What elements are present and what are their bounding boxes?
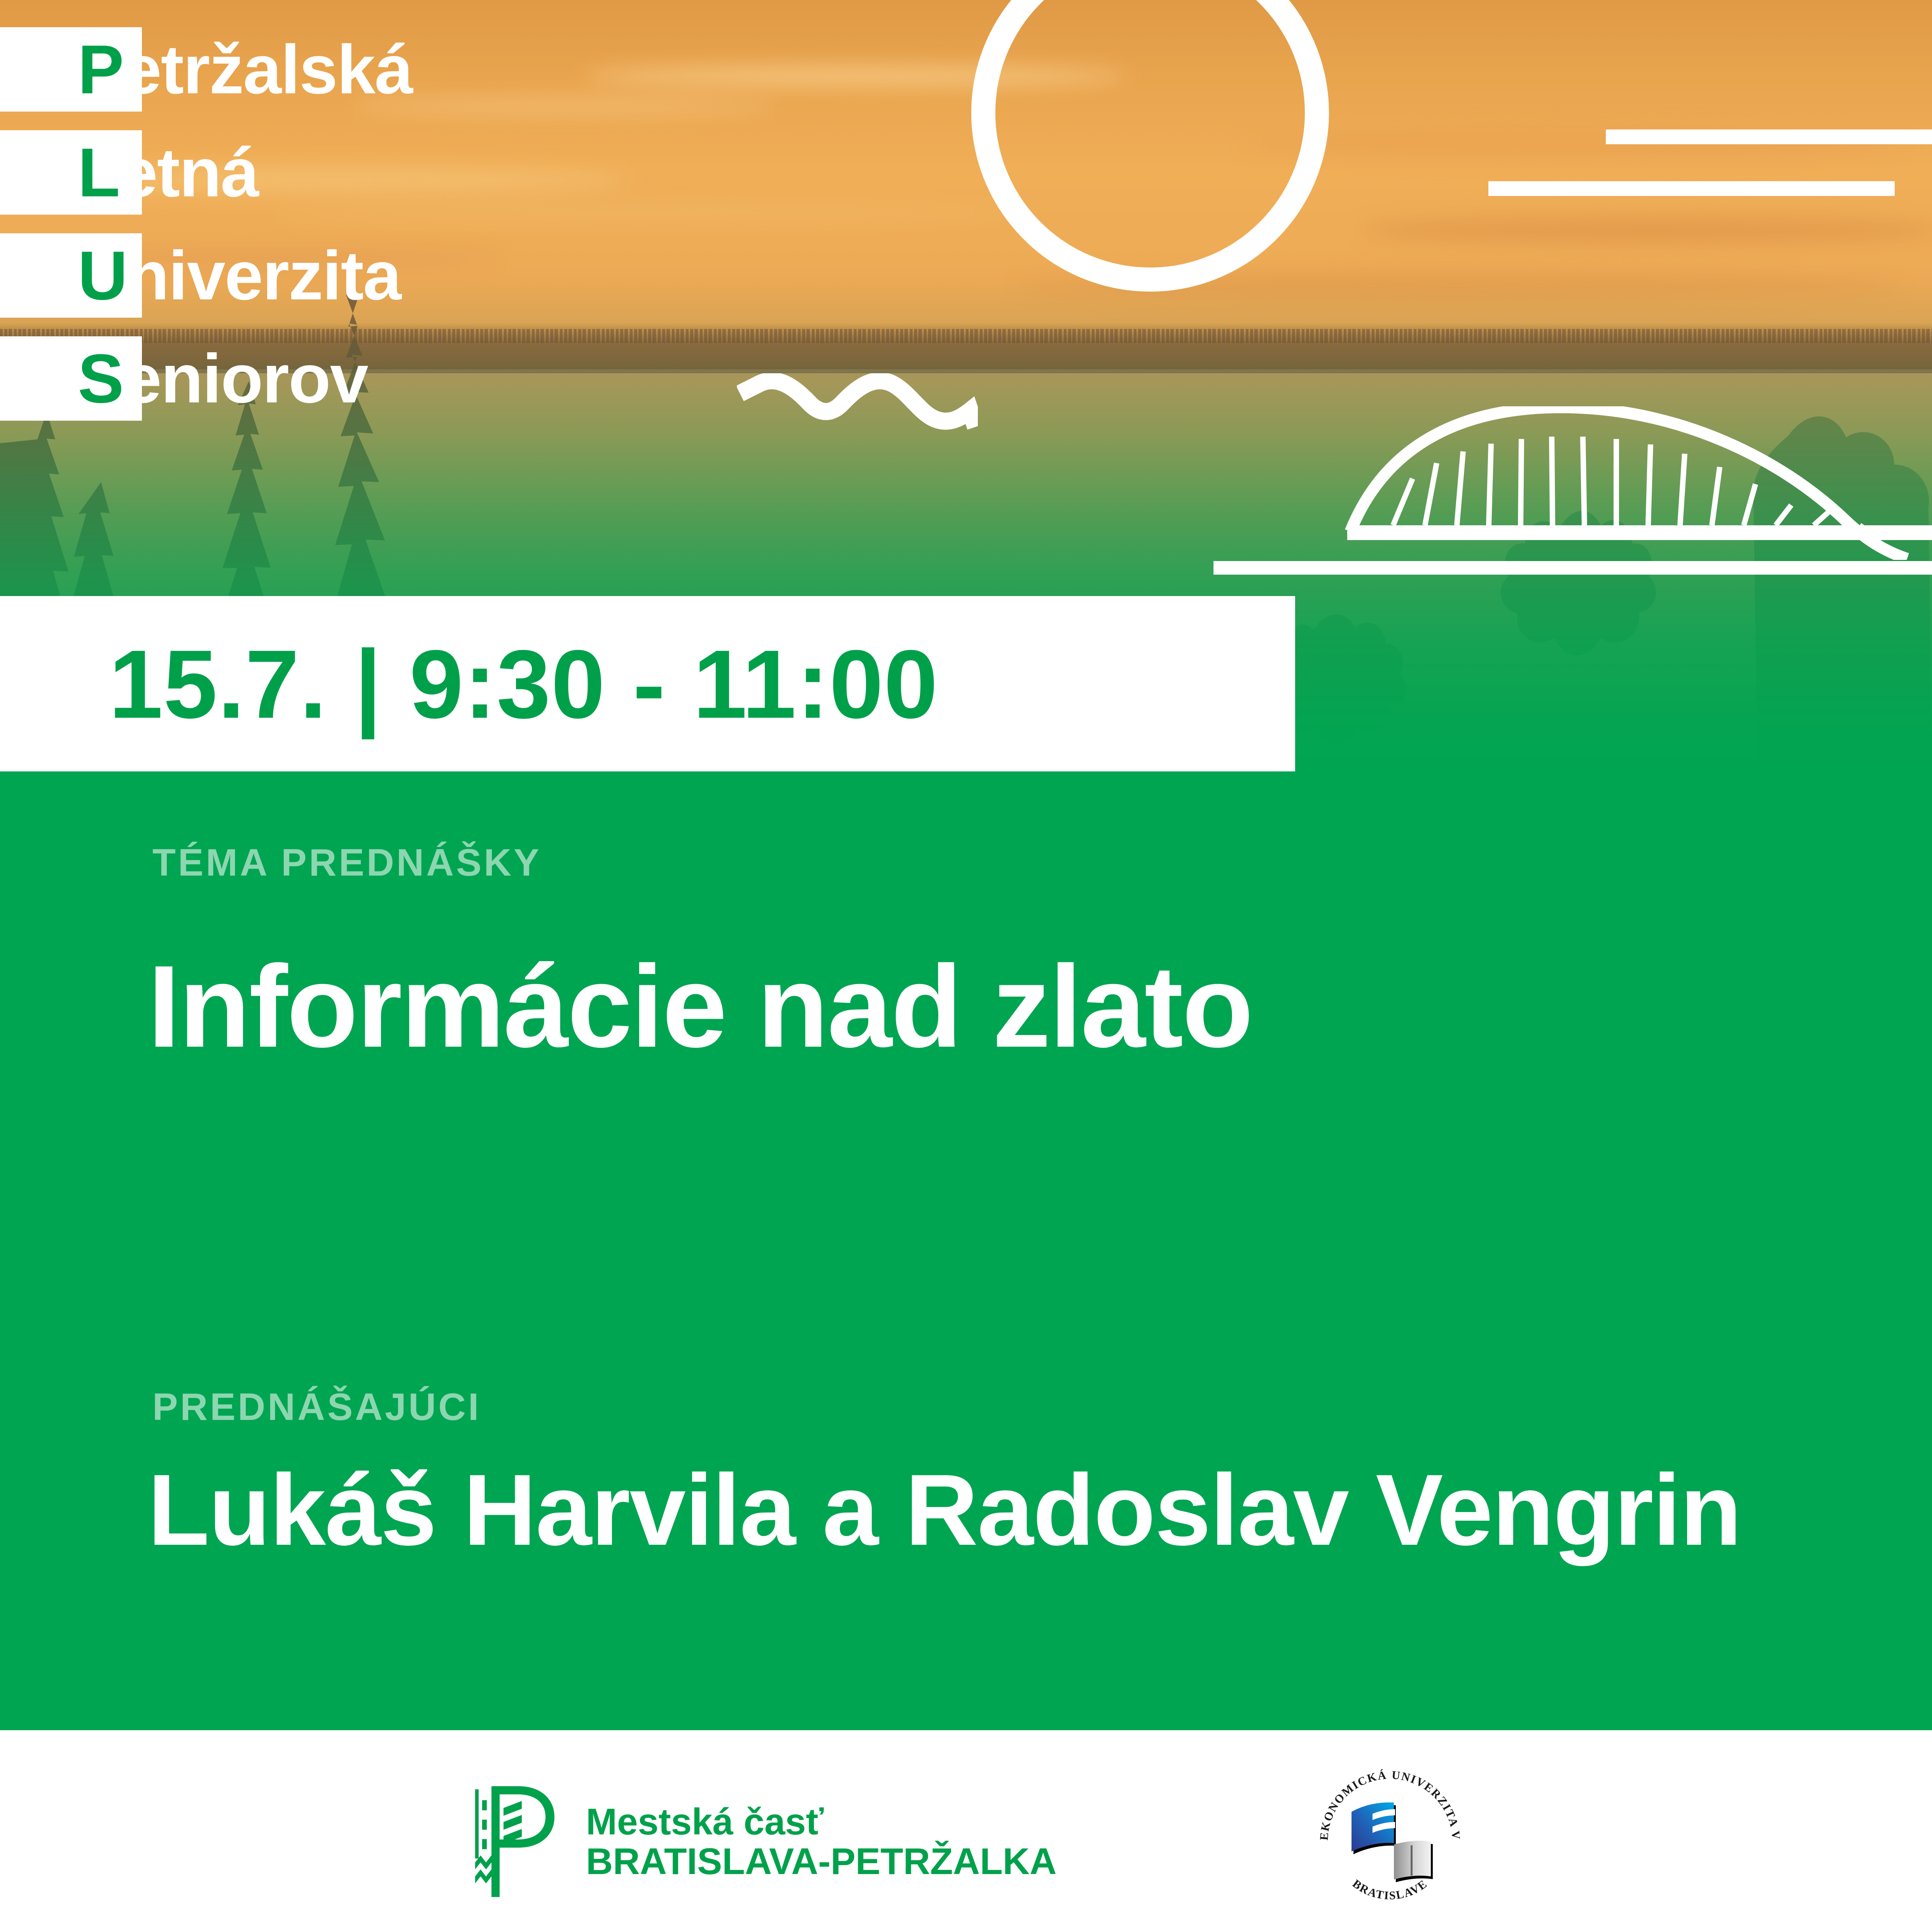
logo-row-p: Petržalská <box>0 27 855 117</box>
euba-book-icon <box>1352 1803 1433 1882</box>
logo-row-u: Univerzita <box>0 233 855 323</box>
logo-word: Petržalská <box>0 27 413 112</box>
euba-ring-text-bottom: BRATISLAVE <box>1350 1877 1430 1902</box>
logo-rest: etržalská <box>123 31 413 108</box>
logo-word: Univerzita <box>0 233 401 318</box>
content-panel <box>0 771 1932 1730</box>
plus-logo: Petržalská Letná Univerzita Seniorov <box>0 27 855 439</box>
decor-bar-lower-right <box>1213 561 1932 575</box>
petrzalka-line-1: Mestská časť <box>586 1802 1057 1842</box>
logo-word: Seniorov <box>0 336 368 421</box>
logo-rest: eniorov <box>123 340 368 417</box>
poster: Petržalská Letná Univerzita Seniorov 15.… <box>0 0 1932 1932</box>
petrzalka-p-icon <box>475 1786 565 1897</box>
decor-bar-top-right <box>1606 129 1932 144</box>
speaker-kicker: PREDNÁŠAJÚCI <box>152 1385 481 1429</box>
euba-seal-logo: EKONOMICKÁ UNIVERZITA V BRATISLAVE <box>1314 1765 1466 1917</box>
logo-initial: L <box>78 134 119 211</box>
petrzalka-line-2: BRATISLAVA-PETRŽALKA <box>586 1842 1057 1881</box>
logo-row-s: Seniorov <box>0 336 855 426</box>
topic-title: Informácie nad zlato <box>148 948 1252 1065</box>
date-time-banner: 15.7. | 9:30 - 11:00 <box>0 596 1295 772</box>
logo-rest: niverzita <box>127 237 401 314</box>
speaker-names: Lukáš Harvila a Radoslav Vengrin <box>148 1460 1741 1561</box>
logo-row-l: Letná <box>0 130 855 220</box>
topic-kicker: TÉMA PREDNÁŠKY <box>152 841 542 885</box>
decor-bar-mid-right <box>1488 181 1895 196</box>
logo-initial: P <box>78 31 123 108</box>
logo-initial: S <box>78 340 123 417</box>
logo-initial: U <box>78 237 127 314</box>
petrzalka-logo-text: Mestská časť BRATISLAVA-PETRŽALKA <box>586 1802 1057 1881</box>
petrzalka-logo: Mestská časť BRATISLAVA-PETRŽALKA <box>475 1786 1057 1897</box>
logo-rest: etná <box>119 134 259 211</box>
date-time-text: 15.7. | 9:30 - 11:00 <box>0 636 938 733</box>
logo-word: Letná <box>0 130 259 215</box>
